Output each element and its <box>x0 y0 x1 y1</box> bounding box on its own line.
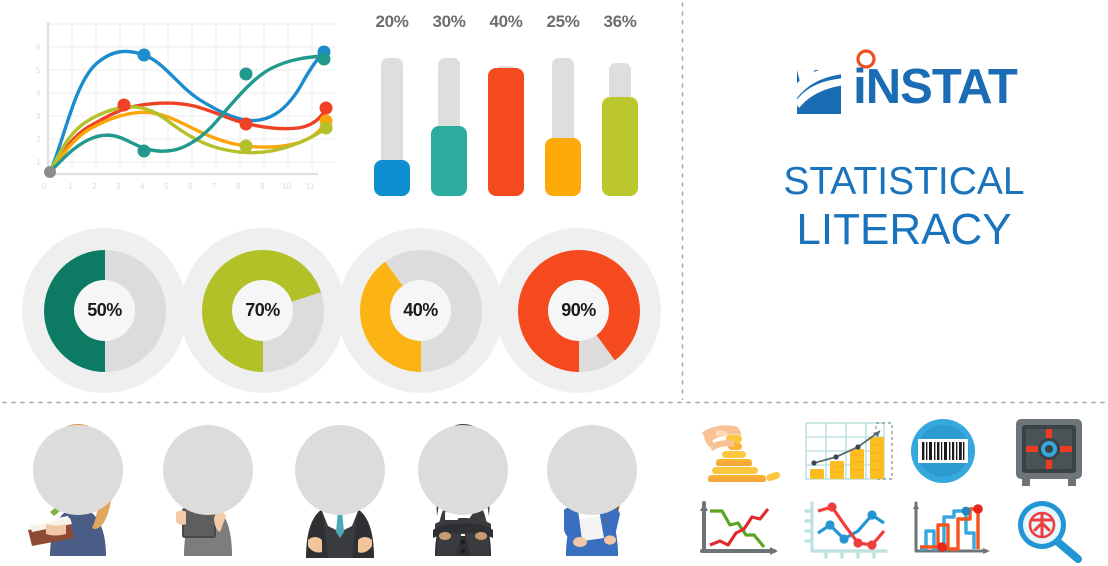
point-red-1 <box>118 99 131 112</box>
page-title-line2: LITERACY <box>796 207 1011 253</box>
xtick: 11 <box>306 182 315 191</box>
avatar-disc <box>547 425 637 515</box>
xtick: 3 <box>116 182 121 191</box>
ytick: 1 <box>36 158 41 167</box>
bar-fill <box>431 126 467 196</box>
brand-panel: iNSTAT STATISTICAL LITERACY <box>700 30 1108 310</box>
bar-group-3: 40% <box>486 12 526 196</box>
xtick: 1 <box>68 182 73 191</box>
point-teal-3 <box>318 53 331 66</box>
xtick: 2 <box>92 182 97 191</box>
avatar-disc <box>163 425 253 515</box>
instat-logo-text: iNSTAT <box>853 63 1017 112</box>
donut-gauge-70: 70% <box>180 228 345 393</box>
magnifier-analysis-icon <box>1008 497 1092 563</box>
series-teal-path <box>50 56 324 172</box>
point-teal-1 <box>138 145 151 158</box>
ytick: 5 <box>36 66 41 75</box>
bar-value-label: 36% <box>600 12 640 32</box>
donut-center-value: 90% <box>548 280 609 341</box>
xtick: 10 <box>282 182 291 191</box>
donut-gauge-row: 50% 70% 40% 90% <box>22 228 662 393</box>
avatar-disc <box>33 425 123 515</box>
infographic-canvas: 6 5 4 3 2 1 0 1 2 3 4 5 6 7 8 9 10 11 <box>0 0 1108 566</box>
point-blue-1 <box>138 49 151 62</box>
avatar-businesswoman-arms-crossed <box>405 420 521 560</box>
multi-series-line-chart: 6 5 4 3 2 1 0 1 2 3 4 5 6 7 8 9 10 11 <box>18 14 348 194</box>
bar-value-label: 25% <box>543 12 583 32</box>
step-line-chart-icon <box>904 497 998 563</box>
instat-logo-wordmark: iNSTAT <box>853 60 1017 114</box>
line-chart-data-points <box>44 46 333 179</box>
orange-ring-dot-icon <box>855 48 877 70</box>
donut-ring: 50% <box>44 250 166 372</box>
xtick: 0 <box>42 182 47 191</box>
coin-bar-chart-growth-icon <box>800 415 896 487</box>
donut-gauge-40: 40% <box>338 228 503 393</box>
avatar-woman-with-documents <box>534 420 650 560</box>
xtick: 7 <box>212 182 217 191</box>
avatar-disc <box>418 425 508 515</box>
bar-group-4: 25% <box>543 12 583 196</box>
instat-logo: iNSTAT <box>791 52 1017 122</box>
point-teal-2 <box>240 68 253 81</box>
series-orange-path <box>50 112 326 172</box>
donut-gauge-50: 50% <box>22 228 187 393</box>
bar-group-1: 20% <box>372 12 412 196</box>
point-olive-1 <box>240 140 253 153</box>
avatar-businessman-in-suit <box>282 420 398 560</box>
percentage-bar-chart: 20% 30% 40% 25% 36% <box>372 6 662 196</box>
bar-fill <box>374 160 410 196</box>
page-title-line1: STATISTICAL <box>783 162 1024 203</box>
ytick: 3 <box>36 112 41 121</box>
point-olive-2 <box>320 122 333 135</box>
ytick: 4 <box>36 89 41 98</box>
donut-center-value: 50% <box>74 280 135 341</box>
people-avatar-row <box>20 420 670 566</box>
donut-center-value: 70% <box>232 280 293 341</box>
instat-wave-mark-icon <box>791 56 853 118</box>
line-chart-svg: 6 5 4 3 2 1 0 1 2 3 4 5 6 7 8 9 10 11 <box>18 14 348 194</box>
line-chart-series <box>50 51 326 172</box>
bar-group-5: 36% <box>600 12 640 196</box>
bar-value-label: 20% <box>372 12 412 32</box>
ytick: 6 <box>36 43 41 52</box>
series-blue-path <box>50 51 324 172</box>
barcode-in-circle-icon <box>904 415 982 487</box>
xtick: 8 <box>236 182 241 191</box>
avatar-woman-with-tablet <box>150 420 266 560</box>
donut-ring: 90% <box>518 250 640 372</box>
xtick: 4 <box>140 182 145 191</box>
point-red-2 <box>240 118 253 131</box>
xtick: 9 <box>260 182 265 191</box>
xtick: 5 <box>164 182 169 191</box>
bar-fill <box>602 97 638 196</box>
donut-ring: 70% <box>202 250 324 372</box>
xtick: 6 <box>188 182 193 191</box>
vertical-dotted-divider <box>681 0 684 400</box>
crossing-line-chart-icon <box>690 497 790 563</box>
hand-placing-coin-on-stacks-icon <box>690 415 790 487</box>
ytick: 2 <box>36 135 41 144</box>
point-red-3 <box>320 102 333 115</box>
avatar-disc <box>295 425 385 515</box>
statistics-icon-grid <box>690 415 1100 563</box>
donut-center-value: 40% <box>390 280 451 341</box>
horizontal-dotted-divider <box>0 401 1108 404</box>
point-origin <box>44 166 56 178</box>
bar-value-label: 30% <box>429 12 469 32</box>
dotted-line-chart-icon <box>800 497 896 563</box>
bar-value-label: 40% <box>486 12 526 32</box>
donut-ring: 40% <box>360 250 482 372</box>
bar-fill <box>545 138 581 196</box>
avatar-woman-with-notebook <box>20 420 136 560</box>
bar-group-2: 30% <box>429 12 469 196</box>
bar-fill <box>488 68 524 196</box>
safe-vault-icon <box>1008 415 1092 489</box>
donut-gauge-90: 90% <box>496 228 661 393</box>
